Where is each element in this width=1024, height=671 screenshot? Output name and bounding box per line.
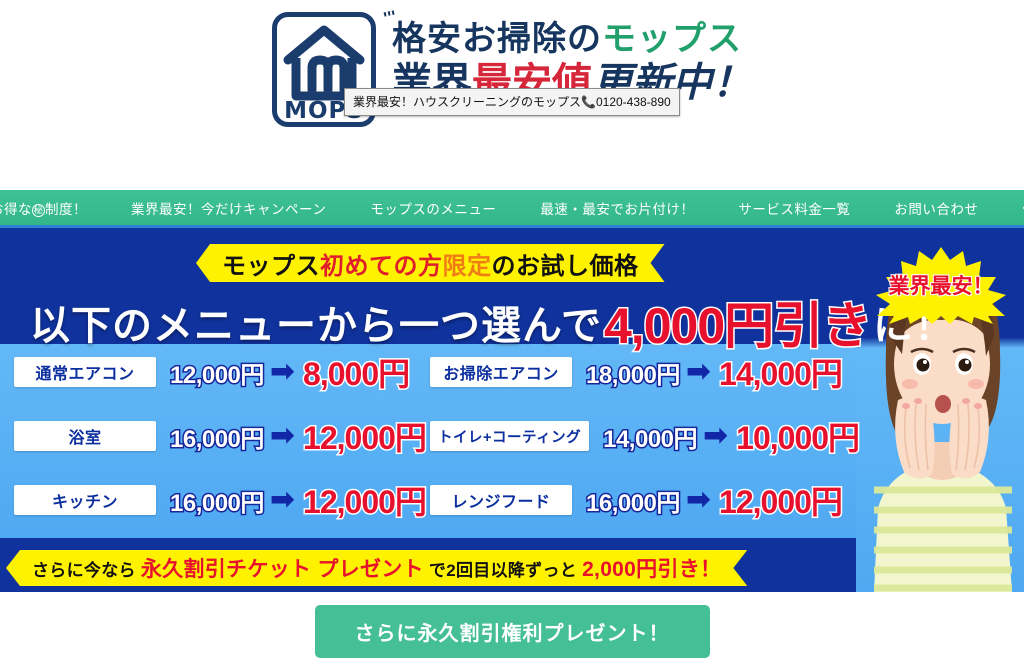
landing-page: MOPS ''' 格安お掃除のモップス 業界最安値更新中！ 業界最安！ハウスクリ… xyxy=(0,0,1024,671)
price-row: 浴室 16,000円 ➡ 12,000円 トイレ+コーティング 14,000円 … xyxy=(0,412,1024,460)
arrow-right-icon: ➡ xyxy=(270,421,295,451)
arrow-right-icon: ➡ xyxy=(270,485,295,515)
arrow-right-icon: ➡ xyxy=(686,485,711,515)
price-list: 通常エアコン 12,000円 ➡ 8,000円 お掃除エアコン 18,000円 … xyxy=(0,348,1024,540)
nav-item-otoku[interactable]: お得な秘制度！ xyxy=(0,198,109,218)
main-navigation: お得な秘制度！ 業界最安！今だけキャンペーン モップスのメニュー 最速・最安でお… xyxy=(0,190,1024,228)
ribbon-part-2: 初めての方 xyxy=(320,253,443,280)
secret-badge-icon: 秘 xyxy=(32,204,45,217)
price-item: キッチン 16,000円 ➡ 12,000円 xyxy=(0,477,430,523)
catchcopy-line-1: 格安お掃除のモップス xyxy=(392,20,752,59)
arrow-right-icon: ➡ xyxy=(703,421,728,451)
phone-icon: 📞 xyxy=(581,95,596,109)
service-name: キッチン xyxy=(52,488,118,512)
new-price: 12,000円 xyxy=(303,413,426,459)
ribbon-part-4: のお試し価格 xyxy=(492,253,639,280)
nav-item-campaign[interactable]: 業界最安！今だけキャンペーン xyxy=(109,198,348,218)
arrow-right-icon: ➡ xyxy=(270,357,295,387)
nav-label-otoku-a: お得な xyxy=(0,202,32,217)
new-price: 12,000円 xyxy=(719,477,842,523)
nav-item-menu[interactable]: モップスのメニュー xyxy=(348,198,518,218)
nav-item-trust[interactable]: 信頼される xyxy=(1000,198,1024,218)
permanent-discount-cta-button[interactable]: さらに永久割引権利プレゼント！ xyxy=(315,605,710,658)
lowbar-discount-highlight: 2,000円引き！ xyxy=(582,558,721,581)
service-tag: レンジフード xyxy=(430,485,572,515)
service-tag: キッチン xyxy=(14,485,156,515)
service-name: トイレ+コーティング xyxy=(438,426,581,447)
tooltip-text: 業界最安！ハウスクリーニングのモップス xyxy=(353,95,581,109)
nav-item-pricing[interactable]: サービス料金一覧 xyxy=(716,198,872,218)
site-header: MOPS ''' 格安お掃除のモップス 業界最安値更新中！ 業界最安！ハウスクリ… xyxy=(0,0,1024,190)
ribbon-part-1: モップス xyxy=(222,253,320,280)
old-price: 18,000円 xyxy=(586,355,680,390)
burst-label: 業界最安！ xyxy=(889,270,994,300)
old-price: 16,000円 xyxy=(170,419,264,454)
hero-headline: 以下のメニューから一つ選んで 4,000円引き に！ xyxy=(30,286,955,358)
nav-item-contact[interactable]: お問い合わせ xyxy=(872,198,1000,218)
catchcopy-line1-a: 格安お掃除の xyxy=(392,20,602,58)
lowbar-part-a: さらに今なら xyxy=(32,561,141,580)
trial-price-ribbon: モップス初めての方限定のお試し価格 xyxy=(196,244,665,282)
service-tag: 通常エアコン xyxy=(14,357,156,387)
old-price: 12,000円 xyxy=(170,355,264,390)
headline-lead: 以下のメニューから一つ選んで xyxy=(30,293,602,351)
nav-item-katazuke[interactable]: 最速・最安でお片付け！ xyxy=(518,198,716,218)
lowbar-ticket-highlight: 永久割引チケット プレゼント xyxy=(141,558,424,581)
footer-cta-area: さらに永久割引権利プレゼント！ xyxy=(0,592,1024,671)
ribbon-part-3: 限定 xyxy=(443,253,492,280)
price-row: キッチン 16,000円 ➡ 12,000円 レンジフード 16,000円 ➡ … xyxy=(0,476,1024,524)
ribbon-text: モップス初めての方限定のお試し価格 xyxy=(222,246,639,281)
tooltip-phone: 0120-438-890 xyxy=(596,95,671,109)
service-name: お掃除エアコン xyxy=(443,360,559,384)
lowest-price-burst-badge: 業界最安！ xyxy=(866,246,1016,324)
old-price: 16,000円 xyxy=(170,483,264,518)
sparkle-icon: ''' xyxy=(382,7,398,29)
service-tag: お掃除エアコン xyxy=(430,357,572,387)
catchcopy-brand: モップス xyxy=(602,20,742,58)
new-price: 10,000円 xyxy=(736,413,859,459)
new-price: 12,000円 xyxy=(303,477,426,523)
service-name: 浴室 xyxy=(68,424,101,448)
old-price: 16,000円 xyxy=(586,483,680,518)
nav-label-otoku-b: 制度！ xyxy=(45,202,87,217)
price-item: トイレ+コーティング 14,000円 ➡ 10,000円 xyxy=(430,413,870,459)
headline-discount-amount: 4,000円引き xyxy=(604,286,871,358)
service-tag: 浴室 xyxy=(14,421,156,451)
price-item: レンジフード 16,000円 ➡ 12,000円 xyxy=(430,477,870,523)
service-name: レンジフード xyxy=(451,488,550,512)
loyalty-ticket-banner: さらに今なら 永久割引チケット プレゼント で2回目以降ずっと 2,000円引き… xyxy=(6,550,747,586)
service-tag: トイレ+コーティング xyxy=(430,421,589,451)
campaign-hero-banner: モップス初めての方限定のお試し価格 以下のメニューから一つ選んで 4,000円引… xyxy=(0,228,1024,592)
link-tooltip: 業界最安！ハウスクリーニングのモップス📞0120-438-890 xyxy=(344,88,680,116)
lowbar-part-c: で2回目以降ずっと xyxy=(424,561,582,580)
arrow-right-icon: ➡ xyxy=(686,357,711,387)
lowbar-text: さらに今なら 永久割引チケット プレゼント で2回目以降ずっと 2,000円引き… xyxy=(32,553,721,583)
service-name: 通常エアコン xyxy=(35,360,134,384)
price-item: 浴室 16,000円 ➡ 12,000円 xyxy=(0,413,430,459)
old-price: 14,000円 xyxy=(603,419,697,454)
